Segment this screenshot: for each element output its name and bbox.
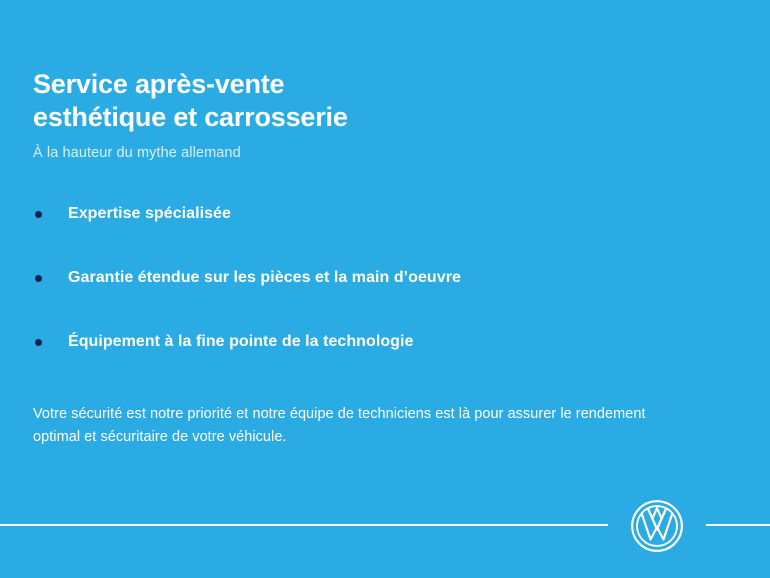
bullet-dot-icon (35, 339, 42, 346)
bullet-dot-icon (35, 211, 42, 218)
list-item: Équipement à la fine pointe de la techno… (33, 331, 733, 353)
list-item-label: Garantie étendue sur les pièces et la ma… (68, 267, 733, 289)
list-item: Garantie étendue sur les pièces et la ma… (33, 267, 733, 289)
list-item-label: Expertise spécialisée (68, 203, 733, 225)
feature-list: Expertise spécialisée Garantie étendue s… (33, 203, 733, 353)
footer (0, 499, 770, 553)
list-item-label: Équipement à la fine pointe de la techno… (68, 331, 733, 353)
header: Service après-vente esthétique et carros… (33, 68, 713, 163)
divider-right (706, 524, 770, 526)
bullet-dot-icon (35, 275, 42, 282)
page-title: Service après-vente esthétique et carros… (33, 68, 713, 135)
promo-slide: Service après-vente esthétique et carros… (0, 0, 770, 578)
page-subtitle: À la hauteur du mythe allemand (33, 144, 713, 163)
volkswagen-logo-icon (630, 499, 684, 553)
divider-left (0, 524, 608, 526)
body-paragraph: Votre sécurité est notre priorité et not… (33, 403, 673, 450)
list-item: Expertise spécialisée (33, 203, 733, 225)
